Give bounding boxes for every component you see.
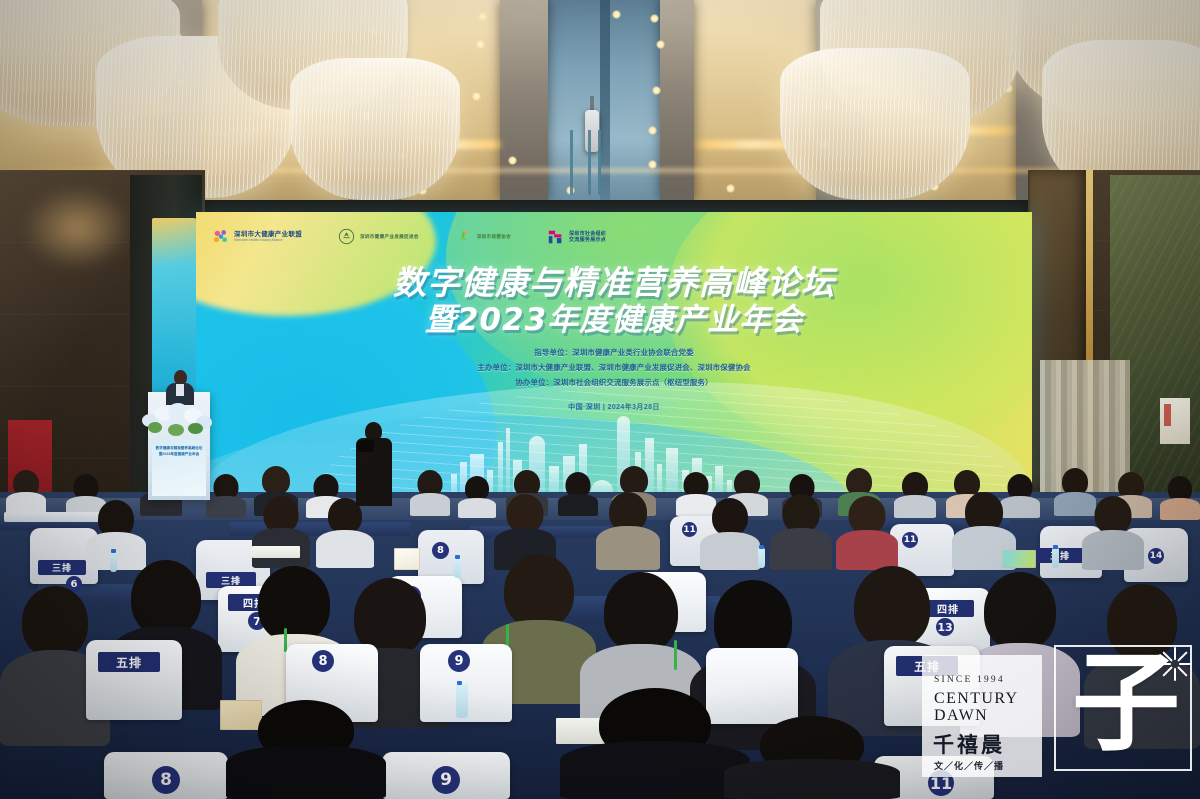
conference-photo: 深圳市大健康产业联盟 Shenzhen Health Industry Alli… — [0, 0, 1200, 799]
watermark-brand-cn: 千禧晨 — [933, 729, 1005, 759]
watermark-tagline: 文／化／传／播 — [934, 759, 1004, 772]
wall-spotlight-glow — [22, 186, 132, 270]
name-card — [394, 548, 420, 570]
sparkle-icon — [1158, 647, 1192, 681]
event-title: 数字健康与精准营养高峰论坛 暨2023年度健康产业年会 — [196, 264, 1032, 338]
water-bottle — [758, 548, 765, 568]
watermark-panel: SINCE 1994 CENTURY DAWN 千禧晨 文／化／传／播 — [922, 655, 1042, 777]
event-title-line2: 暨2023年度健康产业年会 — [196, 302, 1032, 338]
program-card — [1002, 550, 1036, 568]
water-bottle — [1052, 548, 1059, 568]
sponsor-logo-2: 深圳市保健协会 — [455, 228, 511, 246]
sponsor-logo-1: 深圳市健康产业发展促进会 — [338, 228, 419, 246]
healthcare-icon — [455, 228, 473, 246]
camera-icon — [357, 440, 374, 452]
seat-number: 11 — [902, 532, 918, 548]
promotion-icon — [338, 228, 356, 246]
credit-line: 主办单位：深圳市大健康产业联盟、深圳市健康产业发展促进会、深圳市保健协会 — [196, 360, 1032, 375]
watermark-brand-en: CENTURY DAWN — [934, 690, 1018, 724]
podium-title-line1: 数字健康与精准营养高峰论坛 — [152, 446, 206, 451]
watermark-since: SINCE 1994 — [934, 675, 1005, 685]
event-date-location: 中国·深圳 | 2024年3月28日 — [196, 402, 1032, 412]
foreground-person — [560, 688, 750, 799]
water-bottle — [454, 558, 461, 578]
credit-line: 协办单位：深圳市社会组织交流服务展示点（枢纽型服务） — [196, 375, 1032, 390]
water-bottle — [456, 684, 468, 718]
seat-number: 8 — [432, 542, 449, 559]
photographer — [356, 418, 392, 506]
chandelier — [290, 58, 460, 200]
foreground-person — [226, 700, 386, 799]
floral-arrangement — [138, 400, 220, 440]
sponsor-logo-sublabel: Shenzhen Health Industry Alliance — [234, 239, 302, 242]
sponsor-logo-0: 深圳市大健康产业联盟 Shenzhen Health Industry Alli… — [212, 228, 302, 246]
chandelier — [780, 48, 970, 200]
sponsor-logos: 深圳市大健康产业联盟 Shenzhen Health Industry Alli… — [212, 228, 611, 246]
organizer-credits: 指导单位：深圳市健康产业类行业协会联合党委 主办单位：深圳市大健康产业联盟、深圳… — [196, 345, 1032, 390]
foreground-person — [724, 716, 900, 799]
seat-number: 9 — [432, 766, 460, 794]
podium-branding-panel: 数字健康与精准营养高峰论坛 暨2023年度健康产业年会 — [152, 440, 206, 496]
sponsor-logo-label: 深圳市健康产业发展促进会 — [360, 235, 419, 240]
sponsor-logo-3: 深圳市社会组织交流服务展示点 — [547, 228, 611, 246]
lanyard — [674, 640, 677, 670]
row-label: 三排 — [38, 560, 86, 575]
led-stage-screen: 深圳市大健康产业联盟 Shenzhen Health Industry Alli… — [196, 212, 1032, 500]
handout-paper — [252, 546, 300, 558]
seat-number: 14 — [1148, 548, 1164, 564]
podium-title-line2: 暨2023年度健康产业年会 — [152, 452, 206, 457]
speaker-at-podium — [166, 370, 194, 404]
alliance-icon — [212, 228, 230, 246]
social-org-icon — [547, 228, 565, 246]
credit-line: 指导单位：深圳市健康产业类行业协会联合党委 — [196, 345, 1032, 360]
sponsor-logo-label: 深圳市社会组织交流服务展示点 — [569, 231, 611, 243]
watermark-glyph: 子 — [1072, 651, 1172, 761]
seat-number: 8 — [152, 766, 180, 794]
seat-number: 9 — [448, 650, 470, 672]
row-label: 三排 — [1036, 548, 1084, 563]
seat-number: 8 — [312, 650, 334, 672]
event-title-line1: 数字健康与精准营养高峰论坛 — [196, 264, 1032, 302]
watermark: SINCE 1994 CENTURY DAWN 千禧晨 文／化／传／播 子 — [922, 645, 1200, 799]
seat-number: 11 — [682, 522, 697, 537]
sponsor-logo-label: 深圳市保健协会 — [477, 235, 511, 240]
row-label: 五排 — [98, 652, 160, 672]
